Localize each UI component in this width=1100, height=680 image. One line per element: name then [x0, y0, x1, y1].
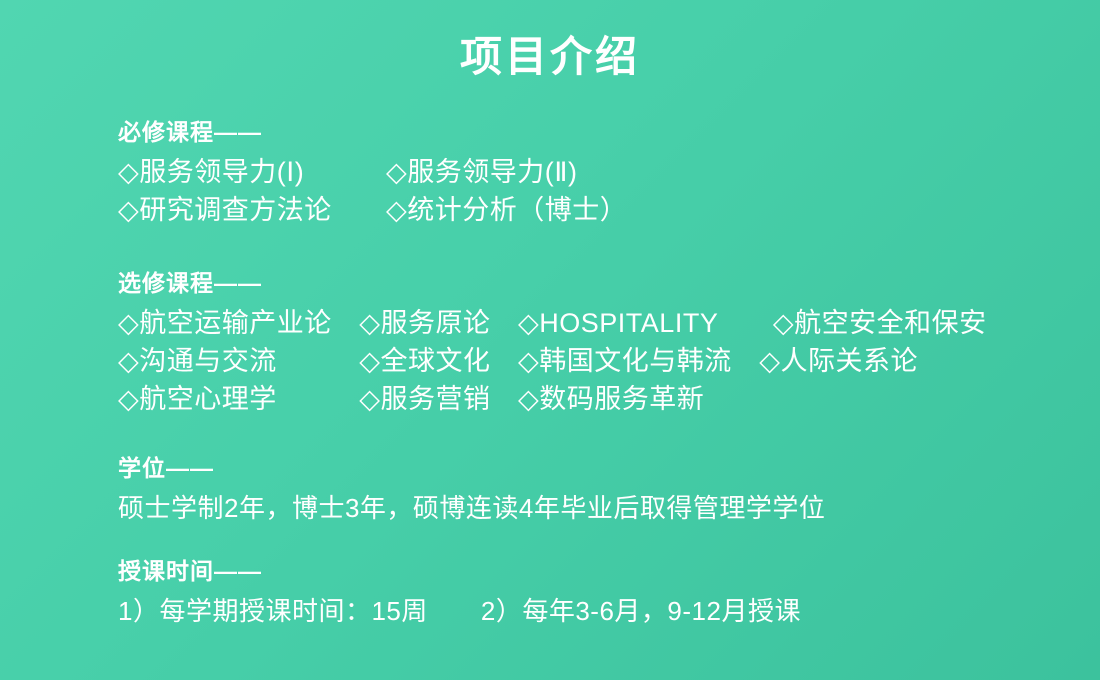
required-course-row: ◇服务领导力(Ⅰ) ◇服务领导力(Ⅱ): [118, 153, 1058, 191]
degree-description: 硕士学制2年，博士3年，硕博连读4年毕业后取得管理学学位: [118, 489, 1058, 527]
required-course-item: ◇服务领导力(Ⅱ): [386, 153, 578, 191]
slide-root: 项目介绍 必修课程—— ◇服务领导力(Ⅰ) ◇服务领导力(Ⅱ) ◇研究调查方法论…: [0, 0, 1100, 680]
section-elective-courses: 选修课程—— ◇航空运输产业论 ◇服务原论 ◇HOSPITALITY ◇航空安全…: [118, 269, 1058, 418]
section-schedule: 授课时间—— 1）每学期授课时间：15周 2）每年3-6月，9-12月授课: [118, 557, 1058, 630]
spacer: [118, 418, 1058, 454]
required-course-item: ◇统计分析（博士）: [386, 191, 627, 229]
section-header-required: 必修课程——: [118, 118, 1058, 148]
schedule-description: 1）每学期授课时间：15周 2）每年3-6月，9-12月授课: [118, 592, 1058, 630]
section-header-schedule: 授课时间——: [118, 557, 1058, 587]
section-required-courses: 必修课程—— ◇服务领导力(Ⅰ) ◇服务领导力(Ⅱ) ◇研究调查方法论 ◇统计分…: [118, 118, 1058, 229]
section-degree: 学位—— 硕士学制2年，博士3年，硕博连读4年毕业后取得管理学学位: [118, 454, 1058, 527]
section-header-degree: 学位——: [118, 454, 1058, 484]
required-course-row: ◇研究调查方法论 ◇统计分析（博士）: [118, 191, 1058, 229]
required-course-item: ◇研究调查方法论: [118, 191, 386, 229]
section-header-elective: 选修课程——: [118, 269, 1058, 299]
page-title: 项目介绍: [0, 33, 1100, 81]
elective-course-row: ◇沟通与交流 ◇全球文化 ◇韩国文化与韩流 ◇人际关系论: [118, 342, 1058, 380]
elective-course-row: ◇航空运输产业论 ◇服务原论 ◇HOSPITALITY ◇航空安全和保安: [118, 304, 1058, 342]
spacer: [118, 229, 1058, 269]
elective-course-row: ◇航空心理学 ◇服务营销 ◇数码服务革新: [118, 380, 1058, 418]
required-course-item: ◇服务领导力(Ⅰ): [118, 153, 386, 191]
spacer: [118, 527, 1058, 557]
content-area: 必修课程—— ◇服务领导力(Ⅰ) ◇服务领导力(Ⅱ) ◇研究调查方法论 ◇统计分…: [118, 118, 1058, 630]
